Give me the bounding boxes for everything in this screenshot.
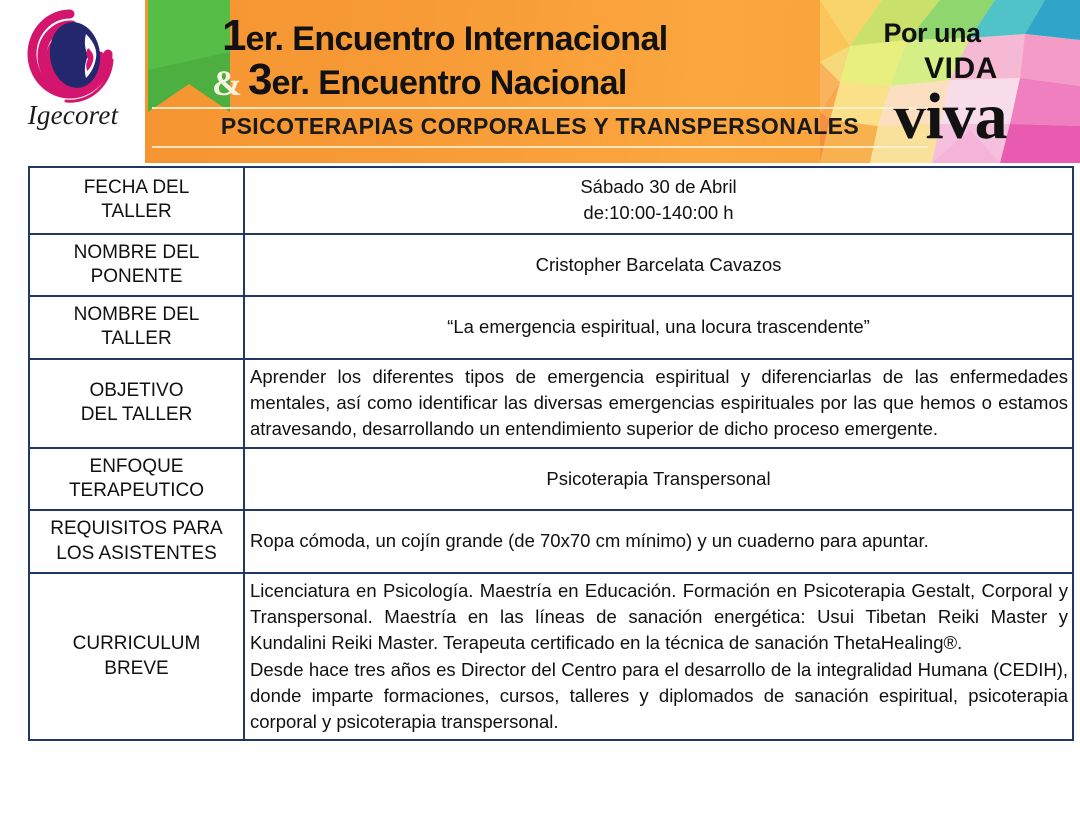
- value-paragraph-2: Desde hace tres años es Director del Cen…: [250, 657, 1068, 736]
- workshop-spec-table-wrapper: FECHA DEL TALLER Sábado 30 de Abril de:1…: [28, 166, 1074, 741]
- row-label-nombre-del-ponente: NOMBRE DEL PONENTE: [29, 234, 244, 297]
- headline-2-number: 3: [248, 55, 271, 104]
- table-row: NOMBRE DEL PONENTE Cristopher Barcelata …: [29, 234, 1073, 297]
- event-header-banner: Por una VIDA viva 25 Aniversario 1er. En…: [0, 0, 1080, 163]
- headline-1-number: 1: [222, 11, 245, 60]
- value-line-1: Sábado 30 de Abril: [255, 174, 1062, 200]
- value-line-1: “La emergencia espiritual, una locura tr…: [255, 314, 1062, 340]
- headline-line-1: 1er. Encuentro Internacional: [222, 14, 668, 58]
- table-row: FECHA DEL TALLER Sábado 30 de Abril de:1…: [29, 167, 1073, 234]
- row-label-curriculum-breve: CURRICULUM BREVE: [29, 573, 244, 741]
- subtitle-rule-top: [152, 107, 928, 109]
- label-line-1: ENFOQUE: [34, 455, 239, 479]
- label-line-2: PONENTE: [34, 265, 239, 289]
- banner-subtitle: PSICOTERAPIAS CORPORALES Y TRANSPERSONAL…: [152, 113, 928, 140]
- label-line-1: NOMBRE DEL: [34, 241, 239, 265]
- row-value-objetivo-del-taller: Aprender los diferentes tipos de emergen…: [244, 359, 1073, 448]
- value-paragraph-1: Licenciatura en Psicología. Maestría en …: [250, 578, 1068, 657]
- table-row: ENFOQUE TERAPEUTICO Psicoterapia Transpe…: [29, 448, 1073, 511]
- ampersand-glyph: &: [212, 62, 242, 104]
- label-line-2: LOS ASISTENTES: [34, 542, 239, 566]
- row-label-fecha-del-taller: FECHA DEL TALLER: [29, 167, 244, 234]
- row-value-enfoque-terapeutico: Psicoterapia Transpersonal: [244, 448, 1073, 511]
- igecoret-spiral-logo-icon: [16, 8, 128, 106]
- value-line-1: Cristopher Barcelata Cavazos: [255, 252, 1062, 278]
- label-line-1: FECHA DEL: [34, 176, 239, 200]
- headline-1-text: er. Encuentro Internacional: [245, 20, 667, 58]
- row-value-nombre-del-taller: “La emergencia espiritual, una locura tr…: [244, 296, 1073, 359]
- subtitle-rule-bottom: [152, 146, 928, 148]
- label-line-1: NOMBRE DEL: [34, 303, 239, 327]
- table-row: OBJETIVO DEL TALLER Aprender los diferen…: [29, 359, 1073, 448]
- table-row: NOMBRE DEL TALLER “La emergencia espirit…: [29, 296, 1073, 359]
- row-label-nombre-del-taller: NOMBRE DEL TALLER: [29, 296, 244, 359]
- label-line-2: TERAPEUTICO: [34, 479, 239, 503]
- row-value-requisitos-asistentes: Ropa cómoda, un cojín grande (de 70x70 c…: [244, 510, 1073, 573]
- value-line-2: de:10:00-140:00 h: [255, 200, 1062, 226]
- label-line-2: BREVE: [34, 657, 239, 681]
- label-line-1: REQUISITOS PARA: [34, 517, 239, 541]
- logo-block: Igecoret: [0, 0, 145, 163]
- workshop-spec-table: FECHA DEL TALLER Sábado 30 de Abril de:1…: [28, 166, 1074, 741]
- label-line-2: TALLER: [34, 200, 239, 224]
- value-line-1: Ropa cómoda, un cojín grande (de 70x70 c…: [250, 528, 1068, 554]
- row-value-curriculum-breve: Licenciatura en Psicología. Maestría en …: [244, 573, 1073, 741]
- row-label-requisitos-asistentes: REQUISITOS PARA LOS ASISTENTES: [29, 510, 244, 573]
- row-value-nombre-del-ponente: Cristopher Barcelata Cavazos: [244, 234, 1073, 297]
- label-line-1: OBJETIVO: [34, 379, 239, 403]
- row-value-fecha-del-taller: Sábado 30 de Abril de:10:00-140:00 h: [244, 167, 1073, 234]
- label-line-2: DEL TALLER: [34, 403, 239, 427]
- value-line-1: Psicoterapia Transpersonal: [255, 466, 1062, 492]
- table-row: REQUISITOS PARA LOS ASISTENTES Ropa cómo…: [29, 510, 1073, 573]
- value-paragraph-1: Aprender los diferentes tipos de emergen…: [250, 364, 1068, 443]
- logo-wordmark: Igecoret: [8, 100, 138, 131]
- row-label-objetivo-del-taller: OBJETIVO DEL TALLER: [29, 359, 244, 448]
- table-row: CURRICULUM BREVE Licenciatura en Psicolo…: [29, 573, 1073, 741]
- headline-line-2: 3er. Encuentro Nacional: [248, 58, 627, 102]
- headline-2-text: er. Encuentro Nacional: [271, 64, 626, 102]
- label-line-1: CURRICULUM: [34, 632, 239, 656]
- row-label-enfoque-terapeutico: ENFOQUE TERAPEUTICO: [29, 448, 244, 511]
- label-line-2: TALLER: [34, 327, 239, 351]
